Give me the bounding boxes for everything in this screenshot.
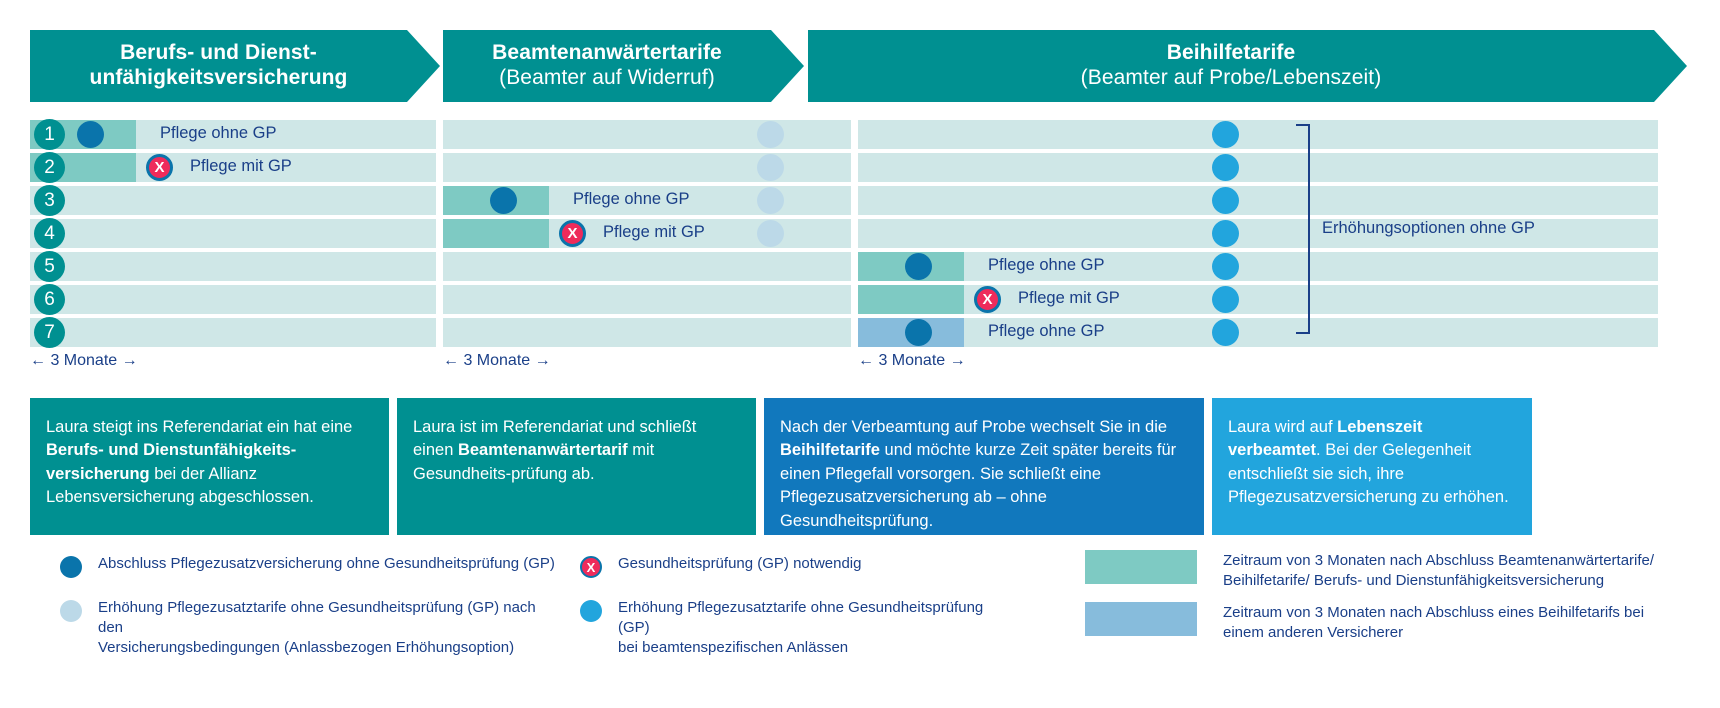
dot-abschluss-ohne-gp — [905, 319, 932, 346]
x-mark-icon: X — [974, 286, 1001, 313]
narrative-2-seg-2: Beamtenanwärtertarif — [458, 441, 628, 459]
table-row: 5 Pflege ohne GP — [30, 252, 1688, 281]
header-banner-berufs-line2: unfähigkeitsversicherung — [90, 66, 348, 91]
x-mark-icon: X — [580, 556, 602, 578]
dot-erhoehung-beamtenspezifisch — [1212, 187, 1239, 214]
narrative-box-4: Laura wird auf Lebenszeit verbeamtet. Be… — [1212, 398, 1532, 535]
header-banner-beihilfe-line1: Beihilfetarife — [1167, 41, 1296, 66]
window-3-months-teal — [858, 285, 964, 314]
row-label: Pflege mit GP — [603, 223, 705, 242]
row-track-col3 — [858, 318, 1658, 347]
legend-zeitraum-teal-line1: Zeitraum von 3 Monaten nach Abschluss Be… — [1223, 551, 1654, 571]
dot-erhoehung-beamtenspezifisch — [1212, 121, 1239, 148]
row-number-badge: 3 — [34, 185, 65, 216]
dot-abschluss-ohne-gp — [77, 121, 104, 148]
row-track-col2 — [443, 153, 851, 182]
track-arrow-icon — [1628, 186, 1658, 214]
caption-3-monate-col1: ← 3 Monate → — [30, 352, 138, 370]
narrative-box-3: Nach der Verbeamtung auf Probe wechselt … — [764, 398, 1204, 535]
narrative-4-seg-1: Laura wird auf — [1228, 418, 1337, 436]
narrative-3-seg-1: Nach der Verbeamtung auf Probe wechselt … — [780, 418, 1167, 436]
track-arrow-icon — [1628, 120, 1658, 148]
table-row: 3 Pflege ohne GP — [30, 186, 1688, 215]
row-label: Pflege ohne GP — [988, 322, 1105, 341]
track-arrow-icon — [1628, 318, 1658, 346]
caption-3-monate-col2: ← 3 Monate → — [443, 352, 551, 370]
track-arrow-icon — [1628, 252, 1658, 280]
dot-erhoehung-beamtenspezifisch — [1212, 154, 1239, 181]
header-banner-beamtenanwaerter-line2: (Beamter auf Widerruf) — [499, 66, 715, 91]
table-row: 6 X Pflege mit GP — [30, 285, 1688, 314]
row-track-col1 — [30, 219, 436, 248]
table-row: 2 X Pflege mit GP — [30, 153, 1688, 182]
row-track-col2 — [443, 318, 851, 347]
row-track-col3 — [858, 186, 1658, 215]
arrow-right-icon — [771, 30, 804, 102]
row-number-badge: 4 — [34, 218, 65, 249]
legend-erhoehung-bedingungen-line1: Erhöhung Pflegezusatztarife ohne Gesundh… — [98, 598, 560, 638]
legend-erhoehung-beamtenspezifisch-line2: bei beamtenspezifischen Anlässen — [618, 638, 1000, 658]
header-banner-berufs-line1: Berufs- und Dienst- — [120, 41, 317, 66]
dot-erhoehung-bedingungen — [757, 220, 784, 247]
legend-erhoehung-beamtenspezifisch-line1: Erhöhung Pflegezusatztarife ohne Gesundh… — [618, 598, 1000, 638]
header-banner-berufs: Berufs- und Dienst- unfähigkeitsversiche… — [30, 30, 407, 102]
row-track-col2 — [443, 285, 851, 314]
dot-abschluss-ohne-gp-icon — [60, 556, 82, 578]
row-track-col1 — [30, 318, 436, 347]
swatch-window-teal — [1085, 550, 1197, 584]
legend-erhoehung-bedingungen-line2: Versicherungsbedingungen (Anlassbezogen … — [98, 638, 560, 658]
row-track-col3 — [858, 153, 1658, 182]
header-banner-beihilfe: Beihilfetarife (Beamter auf Probe/Lebens… — [808, 30, 1654, 102]
row-track-col1 — [30, 252, 436, 281]
swatch-window-blue — [1085, 602, 1197, 636]
bracket-label: Erhöhungsoptionen ohne GP — [1322, 219, 1535, 238]
row-track-col3 — [858, 252, 1658, 281]
bracket-spine — [1308, 124, 1310, 334]
legend-zeitraum-blue-line2: einem anderen Versicherer — [1223, 623, 1644, 643]
row-track-col2 — [443, 120, 851, 149]
narrative-boxes: Laura steigt ins Referendariat ein hat e… — [30, 398, 1688, 535]
row-track-col1 — [30, 285, 436, 314]
legend-gp-notwendig-line1: Gesundheitsprüfung (GP) notwendig — [618, 554, 861, 574]
dot-erhoehung-bedingungen — [757, 121, 784, 148]
track-arrow-icon — [1628, 285, 1658, 313]
legend-abschluss-line1: Abschluss Pflegezusatzversicherung ohne … — [98, 554, 555, 574]
row-label: Pflege ohne GP — [160, 124, 277, 143]
narrative-box-1: Laura steigt ins Referendariat ein hat e… — [30, 398, 389, 535]
row-number-badge: 5 — [34, 251, 65, 282]
row-track-col1 — [30, 186, 436, 215]
row-track-col3 — [858, 120, 1658, 149]
arrow-right-icon — [1654, 30, 1687, 102]
bracket-bottom-arm — [1296, 332, 1309, 334]
header-banner-beihilfe-line2: (Beamter auf Probe/Lebenszeit) — [1081, 66, 1382, 91]
legend: Abschluss Pflegezusatzversicherung ohne … — [0, 548, 1720, 668]
dot-erhoehung-bedingungen-icon — [60, 600, 82, 622]
row-label: Pflege ohne GP — [573, 190, 690, 209]
legend-zeitraum-blue-line1: Zeitraum von 3 Monaten nach Abschluss ei… — [1223, 603, 1644, 623]
narrative-1-seg-1: Laura steigt ins Referendariat ein hat e… — [46, 418, 352, 436]
x-mark-icon: X — [146, 154, 173, 181]
narrative-box-2: Laura ist im Referendariat und schließt … — [397, 398, 756, 535]
x-mark-icon: X — [559, 220, 586, 247]
dot-erhoehung-beamtenspezifisch — [1212, 319, 1239, 346]
erhoehungsoptionen-bracket — [1296, 124, 1310, 334]
row-number-badge: 2 — [34, 152, 65, 183]
legend-zeitraum-teal-line2: Beihilfetarife/ Berufs- und Dienstunfähi… — [1223, 571, 1654, 591]
track-arrow-icon — [1628, 219, 1658, 247]
row-label: Pflege mit GP — [190, 157, 292, 176]
header-banner-row: Berufs- und Dienst- unfähigkeitsversiche… — [0, 30, 1720, 102]
dot-abschluss-ohne-gp — [905, 253, 932, 280]
dot-erhoehung-beamtenspezifisch — [1212, 286, 1239, 313]
header-banner-beamtenanwaerter: Beamtenanwärtertarife (Beamter auf Wider… — [443, 30, 771, 102]
narrative-3-seg-2: Beihilfetarife — [780, 441, 880, 459]
arrow-right-icon — [407, 30, 440, 102]
dot-erhoehung-beamtenspezifisch-icon — [580, 600, 602, 622]
row-label: Pflege mit GP — [1018, 289, 1120, 308]
caption-3-monate-col3: ← 3 Monate → — [858, 352, 966, 370]
dot-erhoehung-bedingungen — [757, 154, 784, 181]
table-row: 1 Pflege ohne GP — [30, 120, 1688, 149]
row-track-col2 — [443, 252, 851, 281]
dot-abschluss-ohne-gp — [490, 187, 517, 214]
row-track-col3 — [858, 219, 1658, 248]
row-number-badge: 6 — [34, 284, 65, 315]
row-number-badge: 7 — [34, 317, 65, 348]
track-arrow-icon — [1628, 153, 1658, 181]
dot-erhoehung-bedingungen — [757, 187, 784, 214]
header-banner-beamtenanwaerter-line1: Beamtenanwärtertarife — [492, 41, 722, 66]
dot-erhoehung-beamtenspezifisch — [1212, 220, 1239, 247]
dot-erhoehung-beamtenspezifisch — [1212, 253, 1239, 280]
table-row: 7 Pflege ohne GP — [30, 318, 1688, 347]
row-label: Pflege ohne GP — [988, 256, 1105, 275]
row-number-badge: 1 — [34, 119, 65, 150]
window-3-months-teal — [443, 219, 549, 248]
